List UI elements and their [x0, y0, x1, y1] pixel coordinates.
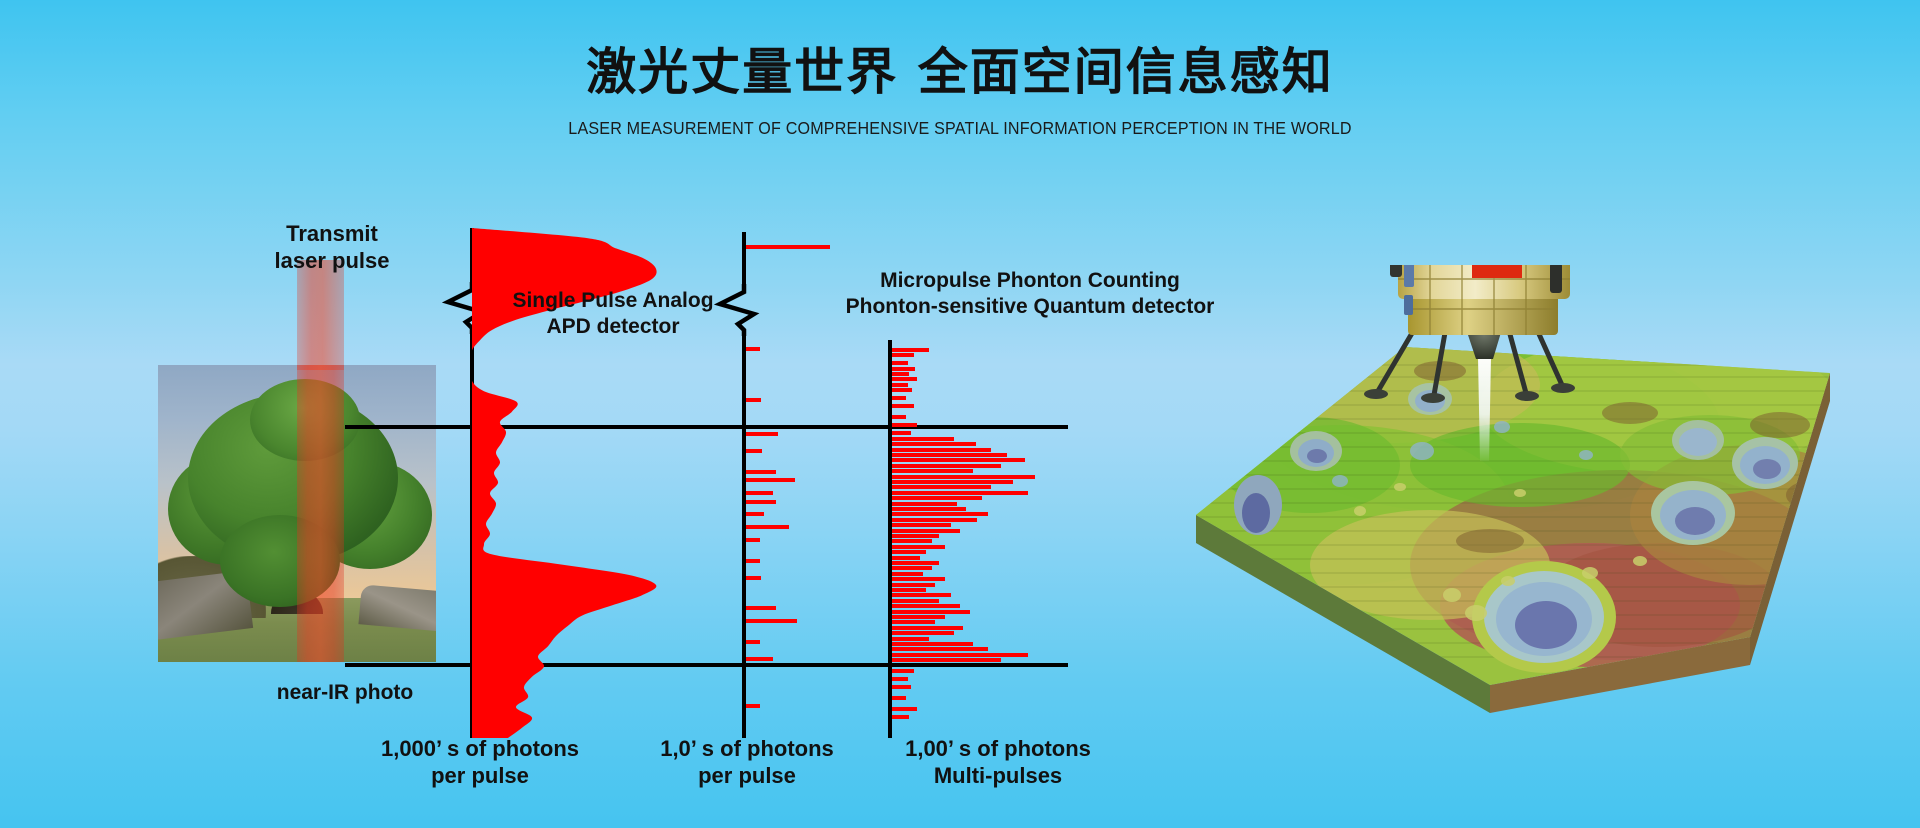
photon-return-bar	[746, 347, 760, 351]
detector1-label: Single Pulse Analog APD detector	[468, 288, 758, 340]
photon-return-bar	[746, 538, 760, 542]
photon-return-bar	[892, 653, 1028, 657]
chart1-caption-line1: 1,000’ s of photons	[348, 735, 612, 762]
photon-return-bar	[892, 383, 908, 387]
transmit-laser-pulse-label: Transmit laser pulse	[232, 220, 432, 275]
chart3-photon-histogram	[892, 345, 1112, 737]
photon-return-bar	[892, 529, 960, 533]
photon-return-bar	[892, 631, 954, 635]
photon-return-bar	[892, 647, 988, 651]
photon-return-bar	[892, 469, 973, 473]
chart2-caption-line2: per pulse	[628, 762, 866, 789]
photon-return-bar	[746, 606, 776, 610]
laser-beam-upper-icon	[297, 260, 344, 370]
photon-return-bar	[892, 669, 914, 673]
photon-return-bar	[892, 367, 915, 371]
photon-return-bar	[892, 626, 963, 630]
lunar-lander-terrain-scene	[1190, 265, 1890, 725]
chart3-caption: 1,00’ s of photons Multi-pulses	[870, 735, 1126, 790]
crater-right-1	[1651, 481, 1735, 545]
photon-return-bar	[746, 449, 762, 453]
photon-return-bar	[892, 431, 911, 435]
detector2-label: Micropulse Phonton Counting Phonton-sens…	[820, 268, 1240, 320]
photon-return-bar	[892, 404, 914, 408]
photon-return-bar	[746, 576, 761, 580]
photon-return-bar	[892, 448, 991, 452]
transmit-label-line2: laser pulse	[232, 247, 432, 274]
china-flag-icon	[1472, 265, 1522, 278]
photon-return-bar	[892, 512, 988, 516]
crater-left-1	[1290, 431, 1342, 471]
photon-return-bar	[746, 245, 830, 249]
near-ir-photo	[158, 365, 436, 662]
photon-return-bar	[892, 437, 954, 441]
photon-return-bar	[746, 512, 764, 516]
photon-return-bar	[746, 657, 773, 661]
photon-return-bar	[746, 432, 778, 436]
photon-return-bar	[892, 593, 951, 597]
chart1-caption-line2: per pulse	[348, 762, 612, 789]
chart2-caption: 1,0’ s of photons per pulse	[628, 735, 866, 790]
photon-return-bar	[892, 485, 991, 489]
chart1-caption: 1,000’ s of photons per pulse	[348, 735, 612, 790]
photon-return-bar	[746, 619, 797, 623]
photon-return-bar	[892, 453, 1007, 457]
photon-return-bar	[892, 464, 1001, 468]
photon-return-bar	[892, 550, 926, 554]
photon-return-bar	[746, 491, 773, 495]
photon-return-bar	[746, 500, 776, 504]
photon-return-bar	[892, 396, 906, 400]
photon-return-bar	[892, 620, 935, 624]
photon-return-bar	[746, 398, 761, 402]
photon-return-bar	[892, 502, 957, 506]
detector2-label-line2: Phonton-sensitive Quantum detector	[820, 294, 1240, 320]
detector1-label-line1: Single Pulse Analog	[468, 288, 758, 314]
lander-laser-beam-icon	[1478, 357, 1491, 461]
header: 激光丈量世界 全面空间信息感知 LASER MEASUREMENT OF COM…	[0, 44, 1920, 139]
photo-stone-wall-right	[358, 584, 436, 631]
photon-return-bar	[892, 583, 935, 587]
photon-return-bar	[892, 556, 920, 560]
crater-right-3	[1672, 420, 1724, 460]
photon-return-bar	[892, 561, 939, 565]
photon-return-bar	[892, 637, 929, 641]
photon-return-bar	[892, 588, 926, 592]
chart2-caption-line1: 1,0’ s of photons	[628, 735, 866, 762]
photon-return-bar	[892, 642, 973, 646]
terrain-dem-surface	[1190, 327, 1890, 685]
photon-return-bar	[746, 704, 760, 708]
photon-return-bar	[892, 539, 932, 543]
photon-return-bar	[892, 685, 911, 689]
page-subtitle: LASER MEASUREMENT OF COMPREHENSIVE SPATI…	[77, 118, 1843, 139]
photon-return-bar	[892, 507, 966, 511]
photon-return-bar	[892, 696, 906, 700]
page-title: 激光丈量世界 全面空间信息感知	[0, 44, 1920, 102]
detector2-label-line1: Micropulse Phonton Counting	[820, 268, 1240, 294]
photon-return-bar	[892, 458, 1025, 462]
photon-return-bar	[892, 475, 1035, 479]
photon-return-bar	[892, 599, 939, 603]
photon-return-bar	[892, 577, 945, 581]
banner-canvas: 激光丈量世界 全面空间信息感知 LASER MEASUREMENT OF COM…	[0, 0, 1920, 828]
photon-return-bar	[892, 707, 917, 711]
photon-return-bar	[892, 496, 982, 500]
photon-return-bar	[746, 470, 776, 474]
photon-return-bar	[892, 610, 970, 614]
photon-return-bar	[746, 559, 760, 563]
photon-return-bar	[892, 348, 929, 352]
crater-right-2	[1732, 437, 1798, 489]
photon-return-bar	[892, 572, 923, 576]
photon-return-bar	[892, 388, 912, 392]
crater-far-left	[1234, 475, 1282, 535]
photon-return-bar	[892, 442, 976, 446]
crater-edge-right	[1794, 539, 1842, 583]
photon-return-bar	[892, 518, 977, 522]
photon-return-bar	[892, 415, 906, 419]
photon-return-bar	[892, 604, 960, 608]
photon-return-bar	[892, 715, 909, 719]
photon-return-bar	[892, 534, 939, 538]
photon-return-bar	[892, 566, 932, 570]
photon-return-bar	[892, 491, 1028, 495]
detector1-label-line2: APD detector	[468, 314, 758, 340]
photon-return-bar	[892, 353, 914, 357]
photon-return-bar	[892, 615, 945, 619]
photon-return-bar	[892, 523, 951, 527]
photon-return-bar	[746, 640, 760, 644]
chart3-caption-line1: 1,00’ s of photons	[870, 735, 1126, 762]
photon-return-bar	[892, 545, 945, 549]
photo-tree-canopy-top	[250, 379, 360, 461]
photon-return-bar	[892, 658, 1001, 662]
photon-return-bar	[892, 677, 908, 681]
photon-return-bar	[892, 377, 917, 381]
photon-return-bar	[892, 372, 909, 376]
photon-return-bar	[892, 480, 1013, 484]
photon-return-bar	[746, 478, 795, 482]
transmit-label-line1: Transmit	[232, 220, 432, 247]
chart3-caption-line2: Multi-pulses	[870, 762, 1126, 789]
near-ir-photo-label: near-IR photo	[205, 680, 485, 706]
photon-return-bar	[892, 423, 917, 427]
photon-return-bar	[746, 525, 789, 529]
photo-tree-canopy-lower	[220, 515, 340, 607]
photon-return-bar	[892, 361, 908, 365]
